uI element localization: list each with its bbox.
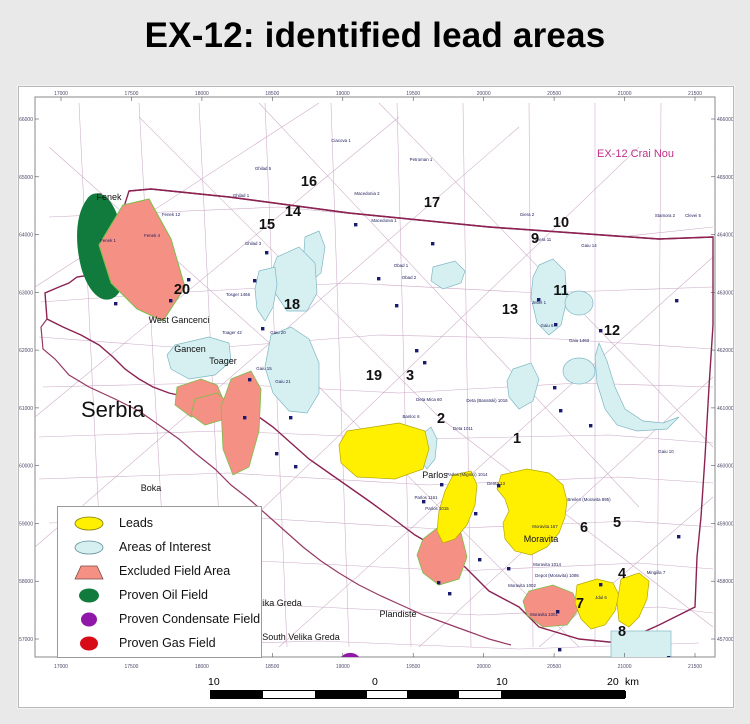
well-label-parlos-1015: Parlos 1015 <box>425 506 449 511</box>
well-label-gaiu-15: Gaiu 15 <box>256 366 272 371</box>
country-label: Serbia <box>81 397 145 422</box>
lead-number-2: 2 <box>437 411 445 427</box>
axis-tick-right-458000: 458000 <box>717 579 733 585</box>
legend-label-areas-of-interest: Areas of Interest <box>119 540 211 554</box>
area-number-13: 13 <box>502 302 518 318</box>
well-label-deta-1011: Deta 1011 <box>453 426 473 431</box>
axis-tick-top-21000: 21000 <box>618 91 632 97</box>
well-label-clevei-5: Clevei 5 <box>685 213 701 218</box>
axis-tick-bottom-17500: 17500 <box>124 664 138 670</box>
legend-item-excluded-field-area[interactable]: Excluded Field Area <box>58 559 261 583</box>
well-label-fenek-4: Fenek 4 <box>144 233 160 238</box>
lead-number-6: 6 <box>580 520 588 536</box>
map-scalebar: 1001020km <box>200 676 640 708</box>
map-panel: Fenek 12Fenek 4Fenek 1Ghilad 5Ghilad 1Gh… <box>18 86 734 708</box>
axis-tick-bottom-20500: 20500 <box>547 664 561 670</box>
legend-label-proven-gas-field: Proven Gas Field <box>119 636 216 650</box>
legend-swatch-areas-of-interest <box>72 539 106 556</box>
legend-item-leads[interactable]: Leads <box>58 511 261 535</box>
well-label-moravita-167: Moravita 167 <box>532 524 558 529</box>
well-label-moravita-1014: Moravita 1014 <box>533 562 561 567</box>
axis-tick-left-465000: 465000 <box>19 175 33 181</box>
well-label-gaiu-14: Gaiu 14 <box>581 243 597 248</box>
axis-tick-left-463000: 463000 <box>19 290 33 296</box>
field-label-boka: Boka <box>141 483 162 493</box>
slide-title-bar: EX-12: identified lead areas <box>0 0 750 72</box>
well-label-depot-moravita-1086: Depot (Moravita) 1086 <box>535 573 579 578</box>
legend-item-areas-of-interest[interactable]: Areas of Interest <box>58 535 261 559</box>
well-label-jdul-6: Jdul 6 <box>595 595 607 600</box>
axis-tick-left-461000: 461000 <box>19 406 33 412</box>
well-label-gaiu-10: Gaiu 10 <box>658 449 674 454</box>
well-label-jebel-1: Jebel 1 <box>532 300 547 305</box>
axis-tick-top-19000: 19000 <box>336 91 350 97</box>
scalebar-labels: 1001020km <box>200 676 640 689</box>
axis-tick-left-459000: 459000 <box>19 521 33 527</box>
axis-tick-right-465000: 465000 <box>717 175 733 181</box>
lead-number-5: 5 <box>613 515 621 531</box>
scalebar-label-10: 10 <box>208 676 220 688</box>
block-label: EX-12 Crai Nou <box>597 148 674 160</box>
axis-tick-left-457000: 457000 <box>19 637 33 643</box>
legend-label-excluded-field-area: Excluded Field Area <box>119 564 230 578</box>
axis-tick-right-459000: 459000 <box>717 521 733 527</box>
field-label-west-gancenci: West Gancenci <box>149 315 210 325</box>
axis-tick-top-18500: 18500 <box>265 91 279 97</box>
well-label-toager-42: Toager 42 <box>222 330 242 335</box>
well-label-gaiu-21: Gaiu 21 <box>275 379 291 384</box>
axis-tick-right-460000: 460000 <box>717 464 733 470</box>
area-number-9: 9 <box>531 231 539 247</box>
axis-tick-right-462000: 462000 <box>717 348 733 354</box>
scalebar-track <box>210 690 625 699</box>
well-label-ciacova-1: Ciacova 1 <box>331 138 351 143</box>
legend-item-proven-gas-field[interactable]: Proven Gas Field <box>58 631 261 655</box>
well-label-gaiu-1463: Gaiu 1463 <box>569 338 590 343</box>
field-label-toager: Toager <box>209 356 237 366</box>
well-label-deta-banatski-1016: Deta (Banatski) 1016 <box>466 398 508 403</box>
lead-number-19: 19 <box>366 368 382 384</box>
area-number-20: 20 <box>174 282 190 298</box>
axis-tick-right-463000: 463000 <box>717 290 733 296</box>
well-label-obad-1: Obad 1 <box>394 263 409 268</box>
axis-tick-bottom-17000: 17000 <box>54 664 68 670</box>
axis-tick-left-464000: 464000 <box>19 233 33 239</box>
area-number-18: 18 <box>284 297 300 313</box>
axis-tick-top-18000: 18000 <box>195 91 209 97</box>
area-number-16: 16 <box>301 174 317 190</box>
map-canvas[interactable]: Fenek 12Fenek 4Fenek 1Ghilad 5Ghilad 1Gh… <box>19 87 733 707</box>
well-label-moravita-1002: Moravita 1002 <box>508 583 536 588</box>
well-label-parlos-mignici-1014: Parlos (Mignici) 1014 <box>446 472 488 477</box>
well-label-ghilad-3: Ghilad 3 <box>245 241 262 246</box>
well-label-deta-mica-60: Deta Mica 60 <box>416 397 442 402</box>
page-title: EX-12: identified lead areas <box>145 16 606 56</box>
axis-tick-right-466000: 466000 <box>717 117 733 123</box>
well-label-petroman-1: Petroman 1 <box>410 157 433 162</box>
well-label-obad-2: Obad 2 <box>402 275 417 280</box>
well-label-breilen-moravita-895-: Breilen (Moravita 895) <box>567 497 611 502</box>
axis-tick-left-462000: 462000 <box>19 348 33 354</box>
well-label-gaiu-20: Gaiu 20 <box>270 330 286 335</box>
axis-tick-right-457000: 457000 <box>717 637 733 643</box>
lead-19[interactable] <box>339 423 429 479</box>
area-number-15: 15 <box>259 217 275 233</box>
area-number-7: 7 <box>576 596 584 612</box>
legend-swatch-leads <box>72 515 106 532</box>
well-label-stamora-2: Stamora 2 <box>655 213 676 218</box>
area-number-11: 11 <box>553 283 568 299</box>
area-number-12: 12 <box>604 323 620 339</box>
axis-tick-left-460000: 460000 <box>19 464 33 470</box>
field-label-gancen: Gancen <box>174 344 206 354</box>
scalebar-label-km: km <box>625 676 639 688</box>
axis-tick-top-20500: 20500 <box>547 91 561 97</box>
axis-tick-right-464000: 464000 <box>717 233 733 239</box>
legend-item-proven-condensate-field[interactable]: Proven Condensate Field <box>58 607 261 631</box>
area-of-interest-10[interactable] <box>565 291 593 315</box>
area-number-17: 17 <box>424 195 440 211</box>
axis-tick-bottom-20000: 20000 <box>477 664 491 670</box>
well-label-mingiila-7: Mingiila 7 <box>647 570 666 575</box>
area-number-8: 8 <box>618 624 626 640</box>
axis-tick-bottom-21500: 21500 <box>688 664 702 670</box>
legend-label-proven-condensate-field: Proven Condensate Field <box>119 612 260 626</box>
axis-tick-bottom-19000: 19000 <box>336 664 350 670</box>
well-label-macedonia-2: Macedonia 2 <box>354 191 380 196</box>
well-label-denta-13: Denta 13 <box>487 481 505 486</box>
field-label-moravita: Moravita <box>524 534 559 544</box>
axis-tick-top-20000: 20000 <box>477 91 491 97</box>
axis-tick-top-21500: 21500 <box>688 91 702 97</box>
map-legend: Leads Areas of Interest Excluded Field A… <box>57 506 262 658</box>
legend-swatch-excluded-field-area <box>72 563 106 580</box>
well-label-ghilad-1: Ghilad 1 <box>233 193 250 198</box>
field-label-south-velika-greda: South Velika Greda <box>262 632 340 642</box>
legend-item-proven-oil-field[interactable]: Proven Oil Field <box>58 583 261 607</box>
scalebar-label-0: 0 <box>372 676 378 688</box>
well-label-giera-2: Giera 2 <box>520 212 535 217</box>
well-label-tosger-1466: Tosger 1466 <box>226 292 251 297</box>
well-label-banloc-6: Banloc 6 <box>402 414 420 419</box>
legend-swatch-proven-oil-field <box>72 587 106 604</box>
lead-number-1: 1 <box>513 431 521 447</box>
legend-label-proven-oil-field: Proven Oil Field <box>119 588 208 602</box>
axis-tick-top-19500: 19500 <box>406 91 420 97</box>
well-label-ghilad-5: Ghilad 5 <box>255 166 272 171</box>
axis-tick-top-17500: 17500 <box>124 91 138 97</box>
scalebar-label-20: 20 <box>607 676 619 688</box>
legend-swatch-proven-gas-field <box>72 635 106 652</box>
well-label-fenek-12: Fenek 12 <box>162 212 181 217</box>
axis-tick-bottom-19500: 19500 <box>406 664 420 670</box>
axis-tick-right-461000: 461000 <box>717 406 733 412</box>
area-of-interest-11[interactable] <box>563 358 595 384</box>
area-number-14: 14 <box>285 204 301 220</box>
well-label-macedonia-1: Macedonia 1 <box>371 218 397 223</box>
slide-page: EX-12: identified lead areas <box>0 0 750 724</box>
scalebar-label-10: 10 <box>496 676 508 688</box>
legend-swatch-proven-condensate-field <box>72 611 106 628</box>
well-label-fenek-1: Fenek 1 <box>100 238 116 243</box>
axis-tick-left-466000: 466000 <box>19 117 33 123</box>
well-label-moravita-1001: Moravita 1001 <box>530 612 558 617</box>
well-label-parlos-1161: Parlos 1161 <box>414 495 438 500</box>
legend-label-leads: Leads <box>119 516 153 530</box>
area-number-10: 10 <box>553 215 569 231</box>
field-label-plandiste: Plandiste <box>379 609 416 619</box>
well-label-gaiu-6: Gaiu 6 <box>541 323 554 328</box>
area-number-3: 3 <box>406 368 414 384</box>
axis-tick-bottom-21000: 21000 <box>618 664 632 670</box>
axis-tick-bottom-18000: 18000 <box>195 664 209 670</box>
axis-tick-left-458000: 458000 <box>19 579 33 585</box>
axis-tick-bottom-18500: 18500 <box>265 664 279 670</box>
area-number-4: 4 <box>618 566 626 582</box>
axis-tick-top-17000: 17000 <box>54 91 68 97</box>
field-label-parlos: Parlos <box>422 470 448 480</box>
field-label-fenek: Fenek <box>96 192 122 202</box>
